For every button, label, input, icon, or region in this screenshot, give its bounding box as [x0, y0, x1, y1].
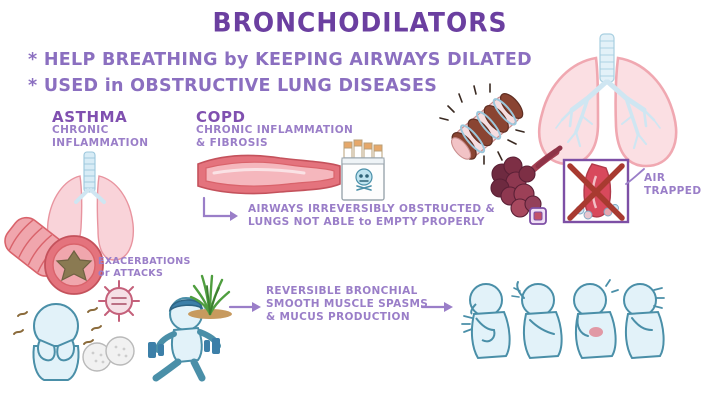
- copd-airway-illustration: [194, 152, 344, 198]
- coughing-figures-illustration: [462, 278, 662, 374]
- poster-canvas: BRONCHODILATORS * HELP BREATHING by KEEP…: [0, 0, 720, 404]
- pollen-icon: [80, 335, 138, 375]
- bullet-help-breathing: * HELP BREATHING by KEEPING AIRWAYS DILA…: [28, 50, 532, 70]
- virus-icon: [96, 278, 142, 324]
- mechanism-arrow-left-icon: [228, 300, 262, 314]
- mechanism-text: REVERSIBLE BRONCHIAL SMOOTH MUSCLE SPASM…: [266, 285, 428, 324]
- mechanism-arrow-right-icon: [420, 300, 454, 314]
- copd-note-text: AIRWAYS IRREVERSIBLY OBSTRUCTED & LUNGS …: [248, 203, 495, 229]
- cigarette-pack-icon: [338, 140, 390, 202]
- copd-note-arrow-icon: [200, 196, 244, 226]
- exacerbations-label: EXACERBATIONS or ATTACKS: [98, 256, 191, 280]
- air-trapped-connector-icon: [624, 166, 646, 188]
- asthma-subtitle: CHRONIC INFLAMMATION: [52, 124, 148, 149]
- damage-crossed-box: [562, 158, 630, 224]
- copd-subtitle: CHRONIC INFLAMMATION & FIBROSIS: [196, 124, 353, 149]
- bullet-obstructive-disease: * USED in OBSTRUCTIVE LUNG DISEASES: [28, 76, 437, 96]
- air-trapped-label: AIR TRAPPED: [644, 172, 701, 198]
